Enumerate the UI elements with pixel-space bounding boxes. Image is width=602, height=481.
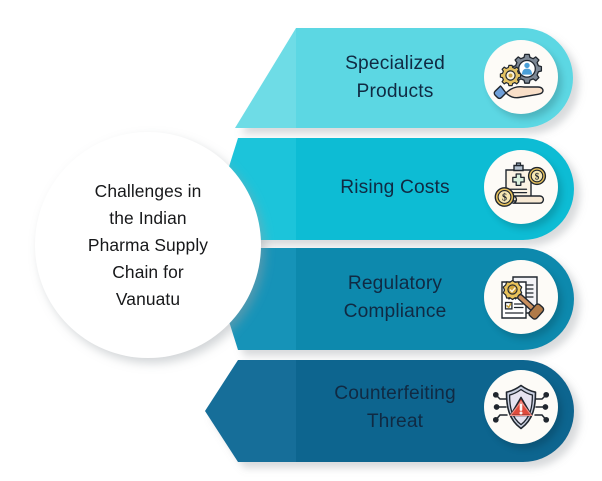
prescription-cost-icon: $ $ bbox=[493, 159, 549, 215]
svg-text:$: $ bbox=[502, 193, 507, 204]
band-1-point bbox=[235, 28, 296, 128]
shield-alert-icon bbox=[493, 379, 549, 435]
svg-text:$: $ bbox=[535, 171, 540, 181]
band-2-icon-badge[interactable]: $ $ bbox=[484, 150, 558, 224]
band-4-icon-badge[interactable] bbox=[484, 370, 558, 444]
hand-holding-gear-icon bbox=[493, 49, 549, 105]
band-1-icon-badge[interactable] bbox=[484, 40, 558, 114]
certificate-gavel-icon bbox=[493, 269, 549, 325]
infographic-root: Challenges in the Indian Pharma Supply C… bbox=[0, 0, 602, 481]
band-3-icon-badge[interactable] bbox=[484, 260, 558, 334]
center-circle[interactable] bbox=[35, 132, 261, 358]
band-4-point bbox=[205, 360, 296, 462]
